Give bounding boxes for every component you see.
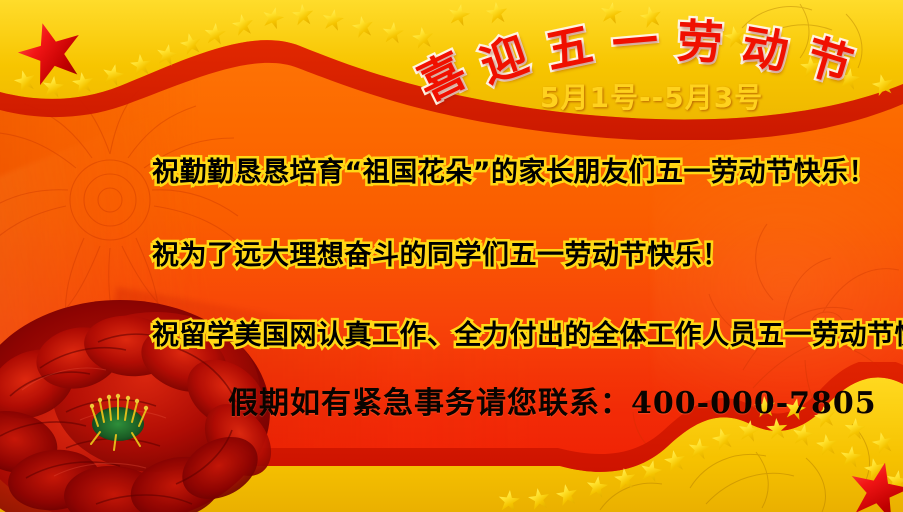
headline-char: 喜 — [411, 46, 473, 108]
gold-star-icon — [41, 75, 65, 99]
gold-star-icon — [71, 71, 96, 96]
greeting-line-parents: 祝勤勤恳恳培育“祖国花朵”的家长朋友们五一劳动节快乐！ — [152, 150, 876, 189]
gold-star-icon — [862, 456, 888, 482]
headline-char: 一 — [610, 17, 660, 67]
red-star-icon — [11, 14, 92, 92]
gold-star-icon — [687, 437, 711, 461]
gold-star-icon — [260, 5, 287, 32]
gold-star-icon — [527, 487, 552, 512]
gold-star-icon — [350, 14, 375, 39]
gold-star-icon — [638, 458, 664, 484]
gold-star-icon — [230, 12, 255, 37]
gold-star-icon — [839, 445, 863, 469]
holiday-banner: 喜 迎 五 一 劳 动 节 5月1号--5月3号 祝勤勤恳恳培育“祖国花朵”的家… — [0, 0, 903, 512]
headline-char: 节 — [800, 32, 857, 89]
greeting-line-students: 祝为了远大理想奋斗的同学们五一劳动节快乐！ — [152, 233, 730, 272]
gold-star-icon — [554, 482, 579, 507]
gold-star-icon — [12, 68, 39, 95]
gold-star-icon — [129, 53, 153, 77]
red-star-icon — [843, 456, 903, 512]
gold-star-icon — [178, 31, 204, 57]
gold-star-icon — [737, 419, 762, 444]
gold-star-icon — [585, 475, 610, 500]
gold-star-icon — [291, 3, 315, 27]
headline-char: 五 — [542, 21, 597, 76]
silk-bottom-shade — [0, 430, 903, 512]
gold-star-icon — [381, 21, 405, 45]
gold-star-icon — [154, 42, 179, 67]
headline-date-range: 5月1号--5月3号 — [540, 76, 763, 116]
gold-star-icon — [884, 468, 903, 493]
headline-char: 劳 — [676, 18, 724, 66]
gold-star-icon — [870, 430, 896, 456]
gold-star-icon — [790, 422, 815, 447]
headline-char: 动 — [738, 22, 791, 75]
gold-star-icon — [613, 467, 637, 491]
gold-star-icon — [100, 62, 126, 88]
gold-star-icon — [321, 8, 346, 33]
greeting-line-staff: 祝留学美国网认真工作、全力付出的全体工作人员五一劳动节快乐！ — [152, 313, 903, 352]
gold-star-icon — [203, 22, 226, 45]
chrysanthemum-lineart-icon — [0, 90, 290, 350]
gold-star-icon — [662, 448, 687, 473]
gold-star-icon — [710, 426, 736, 452]
gold-star-icon — [815, 433, 840, 458]
headline-char: 迎 — [475, 31, 533, 89]
gold-star-icon — [497, 489, 521, 512]
contact-line: 假期如有紧急事务请您联系：400-000-7805 — [228, 378, 877, 422]
